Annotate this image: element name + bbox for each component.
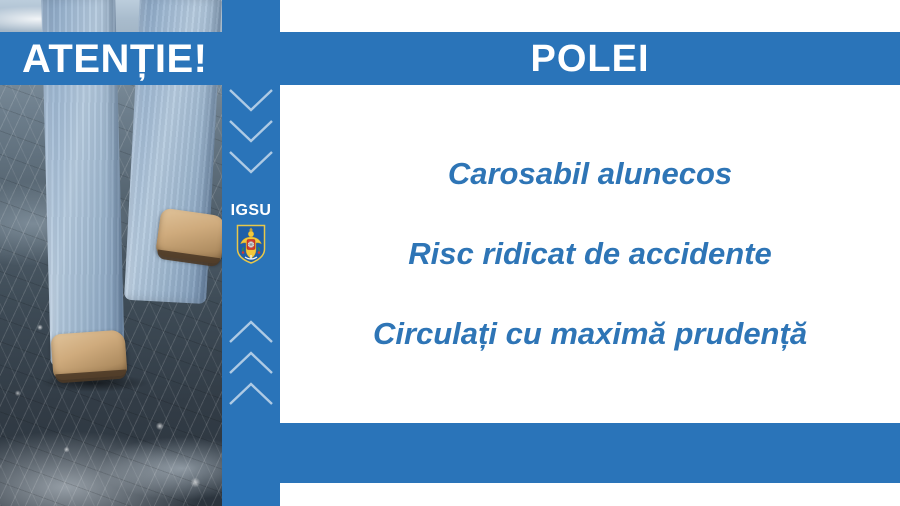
photo-boot-right xyxy=(155,208,222,265)
chevron-down-icon xyxy=(228,119,274,145)
weather-warning-poster: IGSU xyxy=(0,0,900,506)
message-line-2: Risc ridicat de accidente xyxy=(408,235,772,273)
hazard-title: POLEI xyxy=(280,33,900,84)
chevron-up-icon xyxy=(228,349,274,375)
chevron-down-icon xyxy=(228,150,274,176)
chevron-down-icon xyxy=(228,88,274,114)
alert-title: ATENȚIE! xyxy=(22,33,207,84)
message-line-3: Circulați cu maximă prudență xyxy=(373,315,807,353)
chevron-up-icon xyxy=(228,380,274,406)
footer-bar xyxy=(280,423,900,483)
bottom-white-strip xyxy=(280,483,900,506)
romanian-coat-of-arms-icon xyxy=(236,224,266,264)
message-line-1: Carosabil alunecos xyxy=(448,155,732,193)
chevron-down-group xyxy=(222,88,280,176)
photo-boot-left xyxy=(50,329,127,380)
top-white-strip xyxy=(280,0,900,32)
igsu-label: IGSU xyxy=(222,202,280,220)
chevron-up-icon xyxy=(228,318,274,344)
message-panel: Carosabil alunecos Risc ridicat de accid… xyxy=(280,85,900,423)
chevron-up-group xyxy=(222,318,280,406)
